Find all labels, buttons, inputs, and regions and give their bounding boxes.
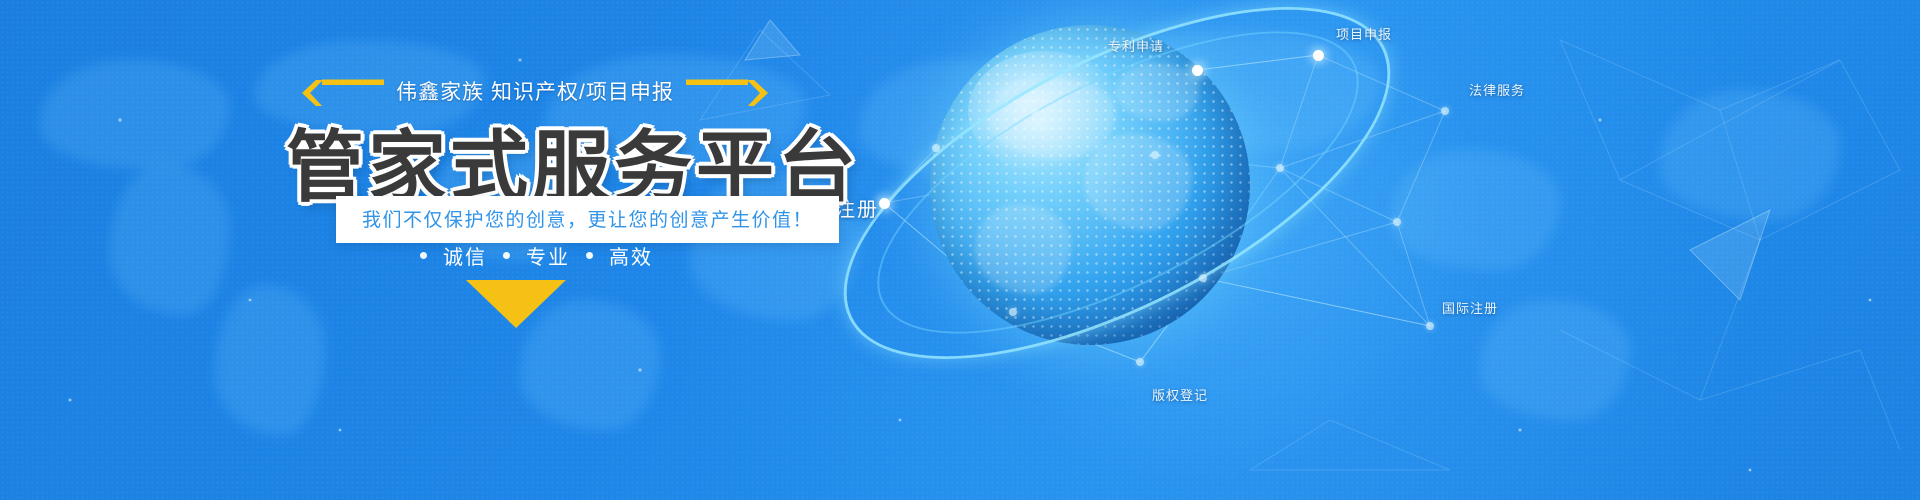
network-node	[879, 198, 890, 209]
keyword-item-efficient: 高效	[593, 241, 669, 270]
network-node	[1441, 107, 1449, 115]
network-node	[1276, 164, 1284, 172]
network-node	[1136, 358, 1144, 366]
network-node	[1009, 308, 1017, 316]
keyword-item-professional: 专业	[510, 241, 586, 270]
network-label-copyright-registration: 版权登记	[1152, 385, 1208, 404]
keyword-list: 诚信 专业 高效	[420, 241, 669, 270]
eyebrow-text: 伟鑫家族 知识产权/项目申报	[396, 76, 674, 106]
network-node	[1151, 151, 1159, 159]
tagline-box: 我们不仅保护您的创意，更让您的创意产生价值！	[336, 196, 839, 243]
network-label-international-registration: 国际注册	[1442, 298, 1498, 317]
globe-graphic	[835, 0, 1395, 500]
chevron-left-icon	[300, 78, 384, 108]
tagline-text: 我们不仅保护您的创意，更让您的创意产生价值！	[362, 205, 813, 232]
eyebrow-row: 伟鑫家族 知识产权/项目申报	[300, 74, 770, 108]
network-node	[1199, 274, 1207, 282]
bullet-dot-icon	[420, 252, 427, 259]
chevron-down-icon	[466, 278, 566, 330]
network-node	[1192, 65, 1203, 76]
network-node	[1313, 50, 1324, 61]
bullet-dot-icon	[586, 252, 593, 259]
keyword-item-integrity: 诚信	[427, 241, 503, 270]
chevron-right-icon	[686, 78, 770, 108]
hero-text-block: 伟鑫家族 知识产权/项目申报 管家式服务平台 我们不仅保护您的创意，更让您的创意…	[0, 0, 880, 500]
network-label-patent-application: 专利申请	[1108, 36, 1164, 55]
network-node	[1393, 218, 1401, 226]
network-label-legal-services: 法律服务	[1469, 80, 1525, 99]
network-node	[1031, 108, 1039, 116]
bullet-dot-icon	[503, 252, 510, 259]
network-label-project-declaration: 项目申报	[1336, 24, 1392, 43]
hero-banner: 专利申请 项目申报 法律服务 商标注册 国际注册 版权登记 伟鑫家族 知识产权/…	[0, 0, 1920, 500]
network-node	[932, 144, 940, 152]
network-node	[1426, 322, 1434, 330]
